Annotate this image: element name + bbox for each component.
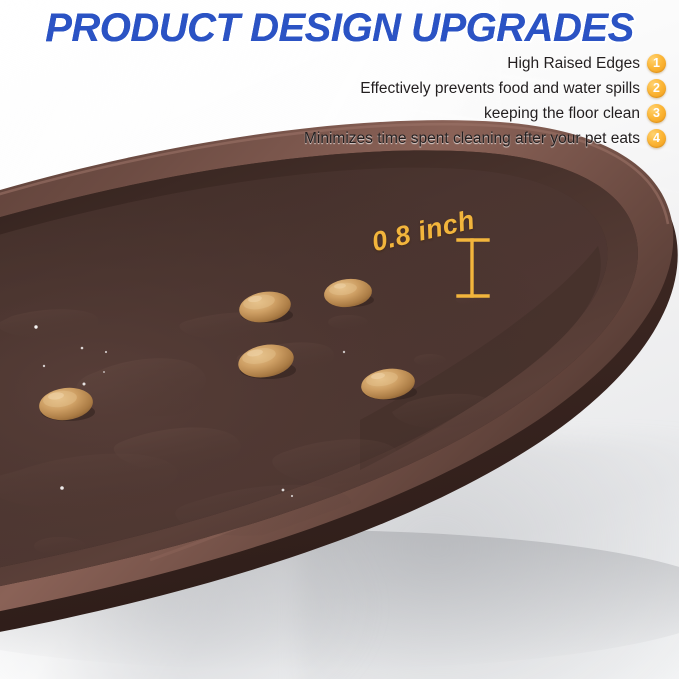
water-sparkle (60, 486, 64, 490)
feature-label: Effectively prevents food and water spil… (360, 80, 640, 98)
water-sparkle (343, 351, 345, 353)
feature-item-4: Minimizes time spent cleaning after your… (304, 127, 666, 150)
water-sparkle (291, 495, 293, 497)
water-sparkle (43, 365, 45, 367)
feature-item-3: keeping the floor clean 3 (484, 102, 666, 125)
water-sparkle (103, 371, 105, 373)
feature-list: High Raised Edges 1 Effectively prevents… (26, 52, 666, 150)
feature-number-badge: 4 (647, 129, 666, 148)
water-sparkle (81, 347, 84, 350)
water-sparkle (105, 351, 107, 353)
water-droplet (414, 354, 446, 366)
feature-item-1: High Raised Edges 1 (507, 52, 666, 75)
product-marketing-image: 0.8 inch PRODUCT DESIGN UPGRADES PRODUCT… (0, 0, 679, 679)
page-title: PRODUCT DESIGN UPGRADES (0, 6, 679, 51)
feature-number-badge: 3 (647, 104, 666, 123)
water-droplet (328, 315, 368, 329)
feature-number-badge: 2 (647, 79, 666, 98)
feature-number-badge: 1 (647, 54, 666, 73)
feature-item-2: Effectively prevents food and water spil… (360, 77, 666, 100)
feature-label: keeping the floor clean (484, 105, 640, 123)
water-droplet (34, 537, 86, 555)
water-sparkle (83, 383, 86, 386)
feature-label: Minimizes time spent cleaning after your… (304, 130, 640, 148)
feature-label: High Raised Edges (507, 55, 640, 73)
water-sparkle (34, 325, 37, 328)
water-sparkle (282, 489, 285, 492)
